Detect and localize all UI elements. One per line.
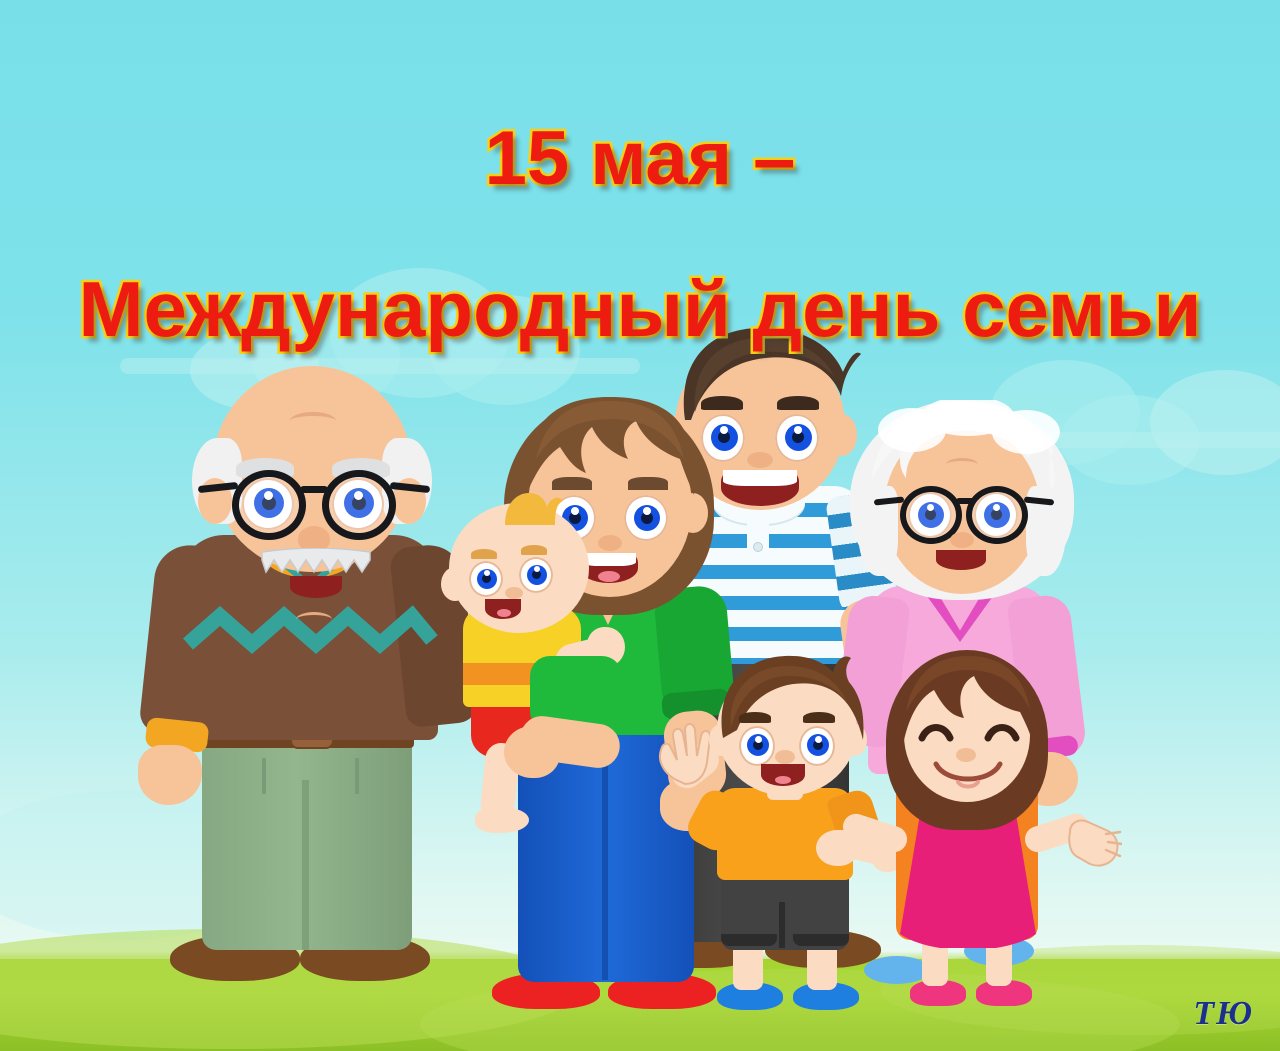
mother-hand-left [504, 726, 560, 778]
grandfather-sweater-zigzag [180, 600, 438, 670]
grandfather-hand-left [138, 745, 202, 805]
author-signature: ТЮ [1193, 995, 1254, 1033]
figure-girl [840, 650, 1090, 1020]
title-line-1: 15 мая – [0, 122, 1280, 196]
baby-hair-tuft [499, 491, 565, 527]
baby-brow-left [471, 549, 497, 559]
mother-brow-right [628, 477, 668, 490]
boy-gleam-right [815, 736, 822, 743]
father-gleam-right [794, 426, 802, 434]
grandfather-trouser-gap [302, 780, 309, 950]
boy-tongue [775, 776, 791, 784]
baby-nose [505, 587, 523, 599]
boy-nose [775, 750, 795, 764]
grandmother-forehead-line [946, 458, 978, 471]
father-nose [747, 452, 773, 468]
grandmother-glasses-bridge [956, 498, 974, 504]
grandfather-glasses-bridge [300, 486, 328, 493]
girl-hand-right [1066, 814, 1122, 872]
baby-gleam-right [534, 566, 540, 572]
boy-shorts-gap [779, 902, 785, 948]
baby-tongue [497, 609, 511, 617]
boy-gleam-left [755, 736, 762, 743]
baby-ear [441, 567, 469, 601]
father-brow-right [777, 396, 819, 410]
girl-smile [932, 758, 1004, 792]
mother-gleam-right [643, 507, 651, 515]
grandfather-forehead-line [290, 412, 336, 430]
father-polo-placket [747, 504, 769, 564]
grandfather-glasses-lens-left [232, 470, 306, 540]
girl-hand-left [816, 830, 858, 866]
baby-gleam-left [484, 570, 490, 576]
poster-canvas: 15 мая – Международный день семьи ТЮ [0, 0, 1280, 1051]
mother-holding-arm [490, 690, 630, 800]
girl-eyes-closed [918, 718, 1022, 748]
boy-brow-left [739, 712, 771, 723]
girl-backfoot-left [864, 956, 930, 984]
baby-brow-right [521, 545, 547, 555]
boy-brow-right [803, 712, 835, 723]
boy-shorts-hem-left [721, 934, 777, 946]
baby-foot [475, 807, 529, 833]
father-polo-button [753, 542, 763, 552]
grandfather-mouth [290, 576, 342, 598]
grandfather-pocket-left [222, 758, 266, 794]
grandfather-glasses-lens-right [322, 470, 396, 540]
grandfather-chin-line [296, 612, 332, 627]
grandmother-mouth [936, 550, 986, 570]
grandmother-glasses-lens-right [966, 486, 1028, 544]
mother-brow-left [552, 477, 592, 490]
grandmother-nose [950, 532, 974, 548]
